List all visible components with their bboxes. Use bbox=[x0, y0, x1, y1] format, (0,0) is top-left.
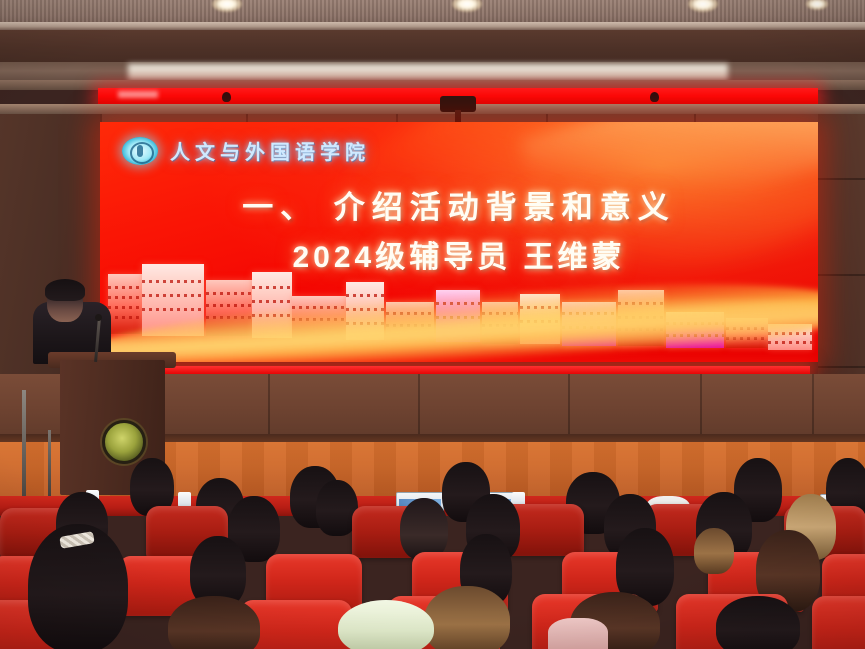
led-strip-speck bbox=[222, 92, 231, 102]
wall-seam bbox=[418, 374, 420, 442]
campus-skyline-illustration bbox=[100, 252, 818, 362]
slide-title: 一、 介绍活动背景和意义 bbox=[100, 182, 818, 227]
university-emblem-icon bbox=[122, 137, 158, 165]
audience-head bbox=[424, 586, 510, 649]
audience-cap bbox=[338, 600, 434, 649]
speaker-hair bbox=[45, 279, 85, 301]
microphone-head-icon bbox=[95, 314, 102, 321]
led-presentation-screen[interactable]: 人文与外国语学院 一、 介绍活动背景和意义 2024级辅导员 王维蒙 bbox=[100, 122, 818, 362]
university-seal-icon bbox=[102, 420, 146, 464]
ceiling-beam bbox=[0, 22, 865, 30]
wall-panel-seam bbox=[818, 178, 865, 180]
wall-seam bbox=[268, 374, 270, 442]
wall-seam bbox=[812, 374, 814, 442]
equipment-stand-pole bbox=[22, 390, 26, 498]
right-wall bbox=[818, 114, 865, 414]
audience-head bbox=[716, 596, 800, 649]
equipment-stand-pole bbox=[48, 430, 51, 502]
wall-panel-seam bbox=[818, 366, 865, 368]
audience-shoulders bbox=[548, 618, 608, 649]
skyline-building bbox=[108, 274, 142, 334]
wall-seam bbox=[568, 374, 570, 442]
screen-org-name: 人文与外国语学院 bbox=[170, 136, 370, 165]
ceiling-wood-band bbox=[0, 30, 865, 66]
auditorium-scene: 人文与外国语学院 一、 介绍活动背景和意义 2024级辅导员 王维蒙 bbox=[0, 0, 865, 649]
auditorium-seat[interactable] bbox=[812, 596, 865, 649]
audience-head bbox=[168, 596, 260, 649]
led-strip-speck bbox=[650, 92, 659, 102]
audience-head bbox=[400, 498, 448, 560]
wall-panel-seam bbox=[818, 274, 865, 276]
soffit-glow bbox=[128, 64, 728, 80]
audience-head bbox=[694, 528, 734, 574]
wall-seam bbox=[700, 374, 702, 442]
